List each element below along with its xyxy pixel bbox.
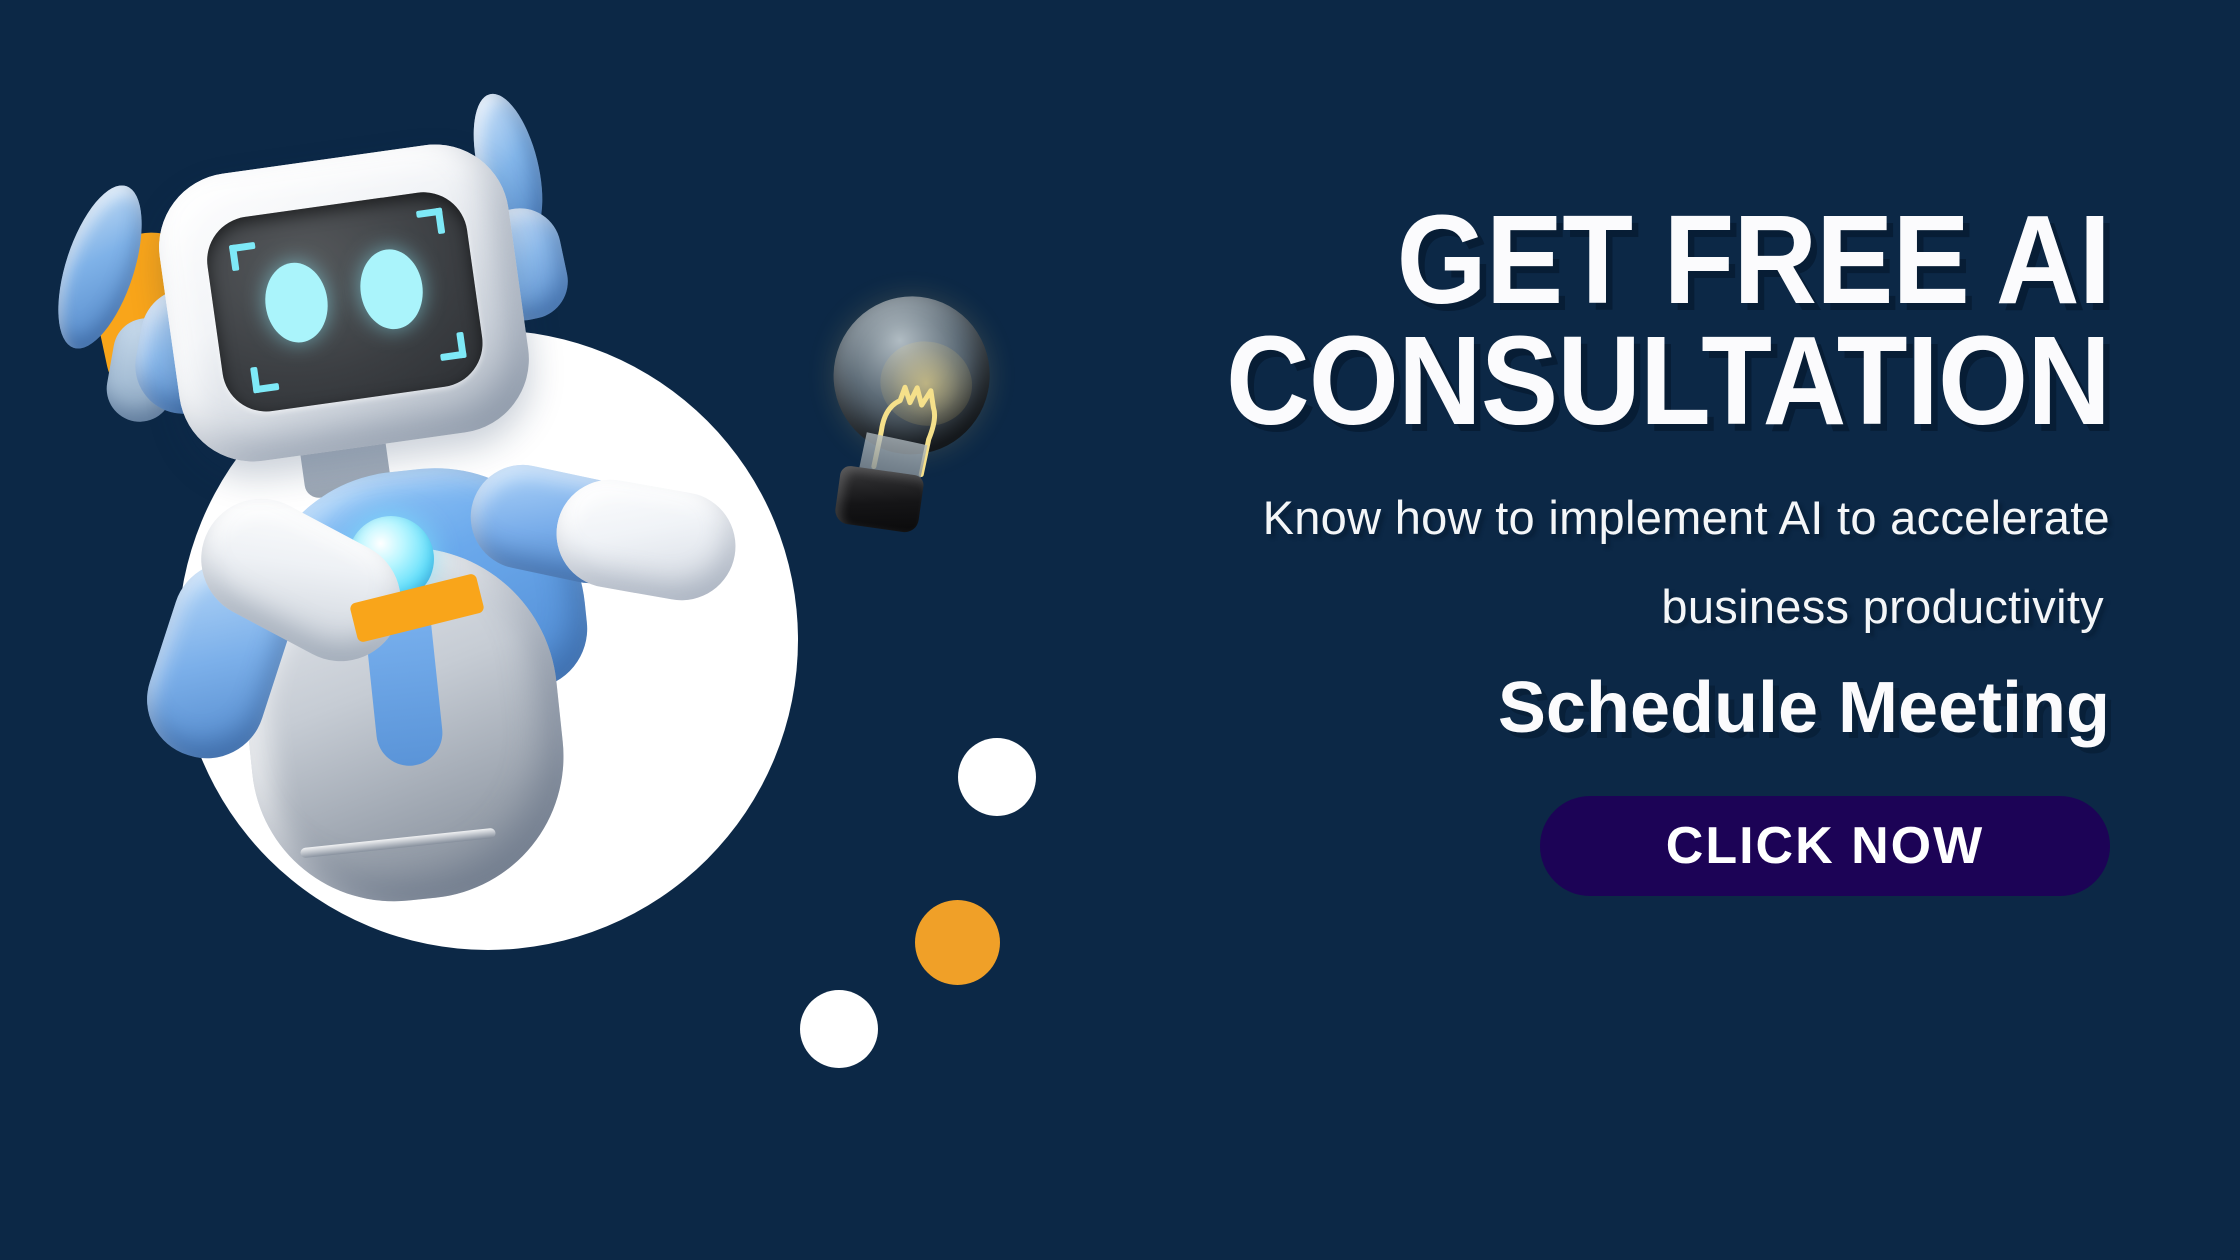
schedule-meeting-label: Schedule Meeting [900, 672, 2110, 744]
robot-eye-right [355, 245, 428, 333]
corner-bracket-icon [250, 364, 279, 393]
promo-banner: GET FREE AI CONSULTATION Know how to imp… [0, 0, 2240, 1260]
subtitle-line-1: Know how to implement AI to accelerate [900, 494, 2110, 541]
cta-row: CLICK NOW [900, 796, 2110, 896]
robot-face-screen [201, 187, 488, 418]
decorative-dot-white [800, 990, 878, 1068]
copy-area: GET FREE AI CONSULTATION Know how to imp… [900, 0, 2110, 1260]
robot-eye-left [260, 259, 333, 347]
click-now-button[interactable]: CLICK NOW [1540, 796, 2110, 896]
subtitle-line-2: business productivity [900, 583, 2104, 630]
headline-line-1: GET FREE AI [997, 200, 2110, 321]
robot-head [150, 135, 539, 471]
corner-bracket-icon [416, 207, 445, 236]
corner-bracket-icon [229, 242, 258, 271]
corner-bracket-icon [437, 332, 466, 361]
headline-line-2: CONSULTATION [997, 321, 2110, 442]
